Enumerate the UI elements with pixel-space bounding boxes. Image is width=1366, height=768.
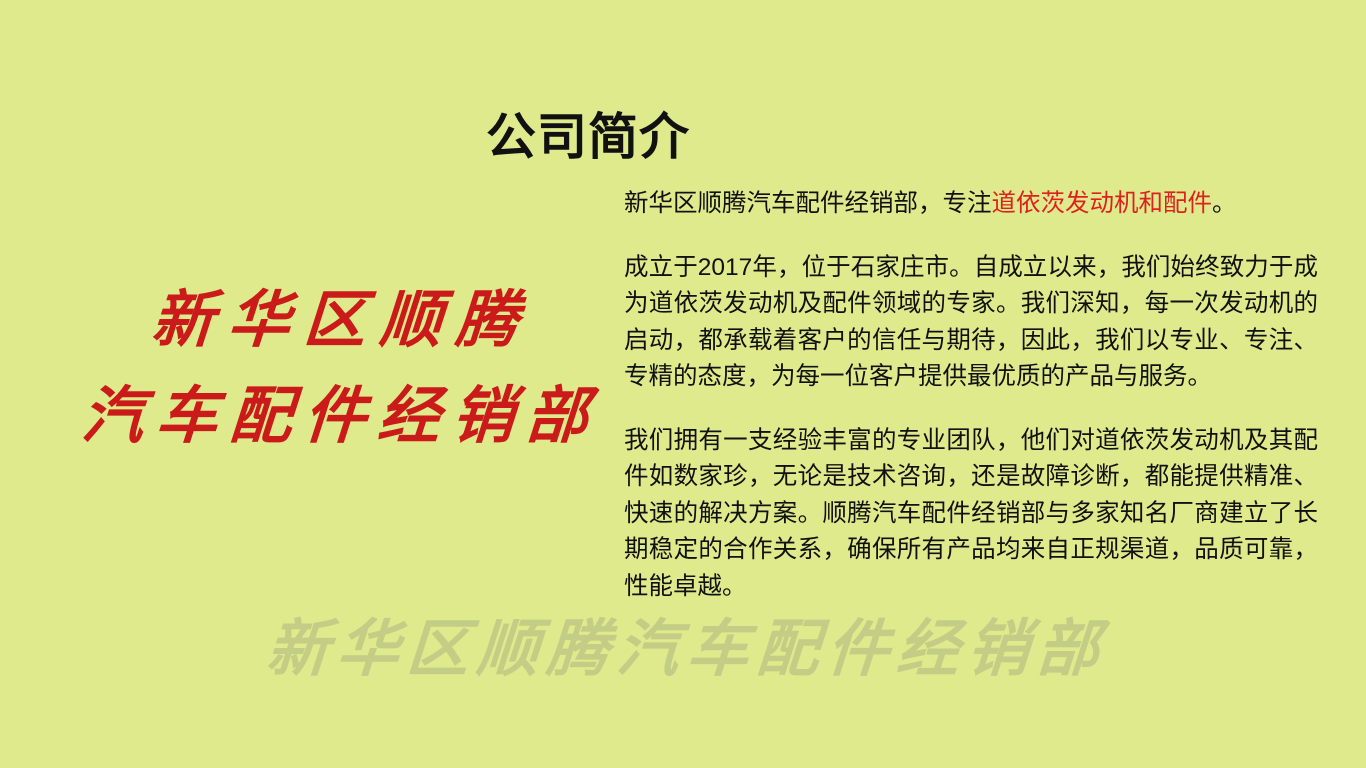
- paragraph-intro-accent: 道依茨发动机和配件: [992, 190, 1213, 217]
- logo-line-1: 新华区顺腾: [52, 272, 619, 368]
- background-watermark: 新华区顺腾汽车配件经销部: [0, 606, 1366, 692]
- logo-line-2: 汽车配件经销部: [52, 368, 619, 464]
- company-profile-body: 新华区顺腾汽车配件经销部，专注道依茨发动机和配件。 成立于2017年，位于石家庄…: [624, 186, 1318, 605]
- page-title: 公司简介: [486, 106, 690, 168]
- paragraph-history: 成立于2017年，位于石家庄市。自成立以来，我们始终致力于成为道依茨发动机及配件…: [624, 250, 1318, 396]
- slide-canvas: 公司简介 新华区顺腾 汽车配件经销部 新华区顺腾汽车配件经销部，专注道依茨发动机…: [0, 0, 1366, 768]
- watermark-text: 新华区顺腾汽车配件经销部: [256, 606, 1110, 692]
- paragraph-intro-lead: 新华区顺腾汽车配件经销部，专注: [624, 190, 992, 217]
- company-logo-wordmark: 新华区顺腾 汽车配件经销部: [55, 272, 615, 464]
- paragraph-team: 我们拥有一支经验丰富的专业团队，他们对道依茨发动机及其配件如数家珍，无论是技术咨…: [624, 423, 1318, 606]
- paragraph-intro-tail: 。: [1212, 190, 1237, 217]
- paragraph-intro: 新华区顺腾汽车配件经销部，专注道依茨发动机和配件。: [624, 186, 1318, 223]
